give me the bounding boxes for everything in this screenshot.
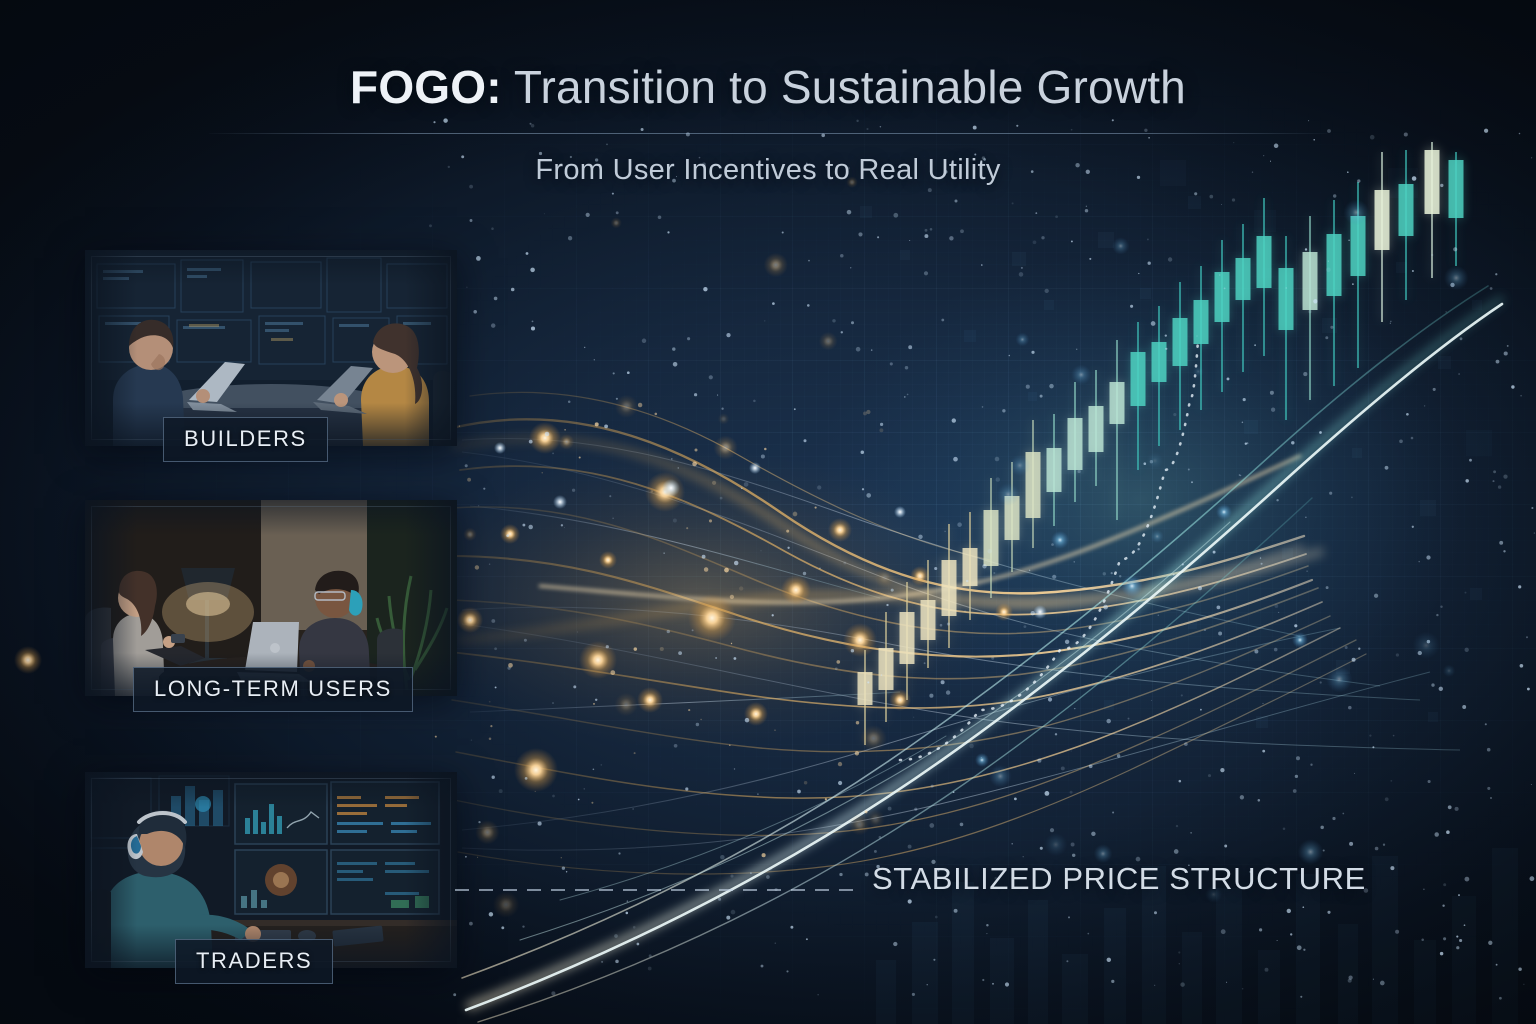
candlestick [1131,352,1146,406]
candlestick [1110,382,1125,424]
candlestick [1327,234,1342,296]
poster-canvas: FOGO: Transition to Sustainable Growth F… [0,0,1536,1024]
candlestick [984,510,999,566]
candlestick [1215,272,1230,322]
candlestick [1279,268,1294,330]
panel-traders[interactable]: TRADERS [85,772,457,968]
panel-builders-label: BUILDERS [163,417,328,462]
candlestick [1236,258,1251,300]
title-brand: FOGO: [350,61,502,113]
stabilized-baseline [455,889,859,891]
candlestick [879,648,894,690]
candlestick [1173,318,1188,366]
candlestick [921,600,936,640]
candlestick [1257,236,1272,288]
candlestick [1068,418,1083,470]
header: FOGO: Transition to Sustainable Growth F… [0,62,1536,187]
candlestick [900,612,915,664]
panel-long-term-users[interactable]: LONG-TERM USERS [85,500,457,696]
cyan-haze [810,250,1470,750]
page-title: FOGO: Transition to Sustainable Growth [0,62,1536,113]
candlestick [1089,406,1104,452]
candlestick [1194,300,1209,344]
candlestick [1152,342,1167,382]
panel-traders-label: TRADERS [175,939,333,984]
title-divider [209,133,1327,134]
panel-long-term-users-label: LONG-TERM USERS [133,667,413,712]
title-rest: Transition to Sustainable Growth [502,61,1186,113]
candlestick [942,560,957,616]
stabilized-price-structure-label: STABILIZED PRICE STRUCTURE [872,861,1366,897]
candlestick [1399,184,1414,236]
candlestick [1047,448,1062,492]
page-subtitle: From User Incentives to Real Utility [0,154,1536,187]
candlestick [858,672,873,705]
panel-builders[interactable]: BUILDERS [85,250,457,446]
candlestick [1375,190,1390,250]
candlestick [963,548,978,586]
